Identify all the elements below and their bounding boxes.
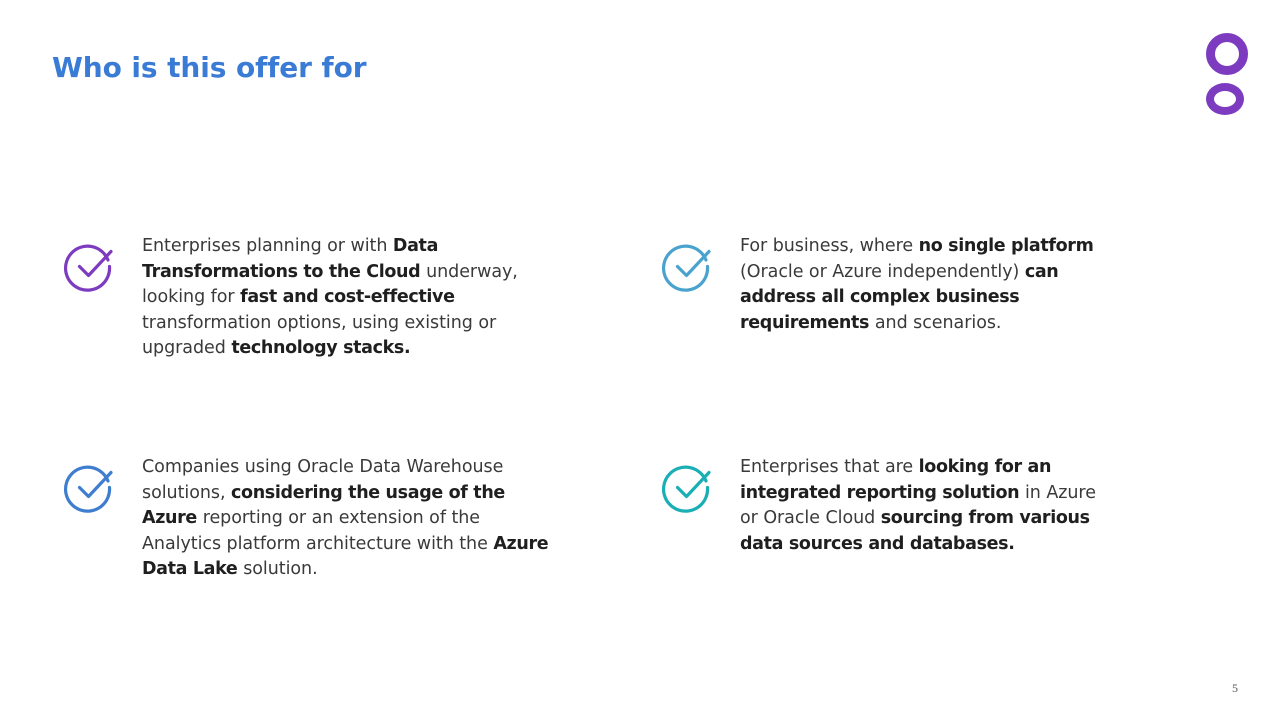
check-mark — [80, 252, 112, 276]
bullet-text: Enterprises that are looking for an inte… — [740, 455, 1102, 557]
bullet-text: For business, where no single platform (… — [740, 234, 1102, 336]
circle-check-icon — [64, 240, 116, 292]
check-circle-arc — [66, 467, 110, 511]
check-circle-arc — [66, 246, 110, 290]
circle-check-icon — [662, 240, 714, 292]
bullet-item: For business, where no single platform (… — [662, 234, 1102, 336]
circle-check-icon — [64, 461, 116, 513]
check-circle-arc — [664, 246, 708, 290]
bullet-text: Enterprises planning or with Data Transf… — [142, 234, 564, 362]
bullet-text: Companies using Oracle Data Warehouse so… — [142, 455, 564, 583]
bullet-item: Companies using Oracle Data Warehouse so… — [64, 455, 564, 583]
circle-check-icon — [662, 461, 714, 513]
page-number: 5 — [1232, 681, 1238, 696]
check-mark — [678, 473, 710, 497]
bullet-item: Enterprises that are looking for an inte… — [662, 455, 1102, 557]
check-mark — [678, 252, 710, 276]
check-circle-arc — [664, 467, 708, 511]
bullet-item: Enterprises planning or with Data Transf… — [64, 234, 564, 362]
check-mark — [80, 473, 112, 497]
bullet-grid: Enterprises planning or with Data Transf… — [0, 0, 1280, 720]
